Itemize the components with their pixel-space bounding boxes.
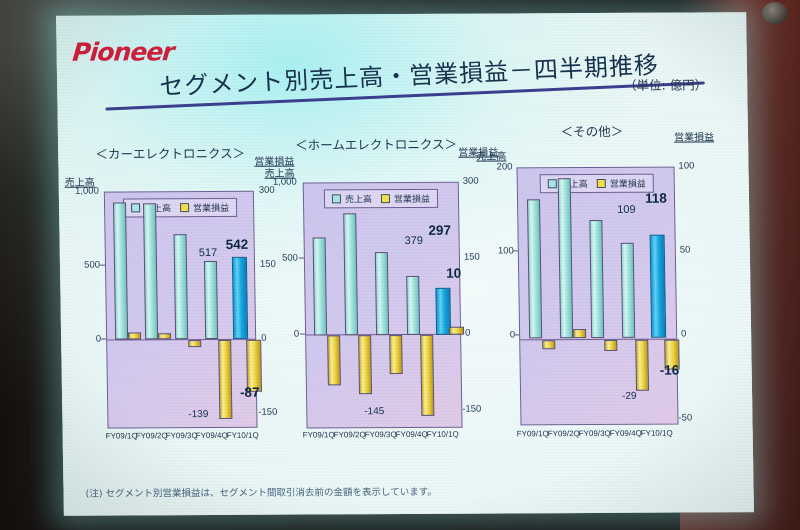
x-tick-label: FY09/2Q: [136, 431, 168, 440]
photo-of-projected-slide: Pioneer セグメント別売上高・営業損益－四半期推移 （単位: 億円） ＜カ…: [0, 0, 800, 530]
bar-revenue: [375, 252, 389, 335]
chart-title: ＜ホームエレクトロニクス＞: [262, 134, 490, 154]
y-tick: 1,000: [59, 186, 99, 197]
x-tick-label: FY09/4Q: [196, 431, 228, 440]
x-tick-label: FY09/1Q: [517, 429, 549, 438]
bar-operating-highlight: [449, 327, 464, 335]
bar-revenue-highlight: [650, 235, 667, 338]
bar-operating: [420, 335, 434, 416]
bar-revenue: [143, 203, 158, 339]
legend-item-operating: 営業損益: [381, 192, 430, 205]
footnote: (注) セグメント別営業損益は、セグメント間取引消去前の金額を表示しています。: [85, 484, 436, 500]
charts-row: ＜カーエレクトロニクス＞ 売上高 営業損益 1,000 500 0 300 15…: [58, 116, 754, 480]
y-tick: 500: [60, 260, 100, 271]
y2-tick: 0: [681, 329, 686, 340]
y2-tick: 300: [463, 176, 479, 187]
legend-swatch-icon: [180, 203, 189, 212]
bar-revenue: [343, 213, 358, 335]
x-tick-label: FY09/2Q: [548, 429, 580, 438]
y-tick: 100: [472, 245, 514, 256]
y-tick: 200: [470, 161, 512, 172]
chart-panel-home-electronics: ＜ホームエレクトロニクス＞ 売上高 営業損益 1,000 500 0 300 1…: [262, 118, 496, 479]
bar-revenue: [589, 220, 604, 338]
legend-swatch-icon: [381, 194, 390, 203]
data-label: -145: [364, 406, 384, 417]
bar-revenue: [558, 178, 574, 338]
chart-legend: 売上高 営業損益: [540, 174, 654, 194]
legend-label: 営業損益: [193, 201, 229, 214]
chart-legend: 売上高 営業損益: [123, 198, 237, 218]
ceiling-fixture: [762, 2, 788, 24]
y-tick: 500: [256, 253, 298, 264]
x-tick-label: FY09/3Q: [365, 430, 397, 439]
x-tick-label: FY10/1Q: [427, 430, 459, 439]
data-label-highlight: 297: [428, 223, 451, 238]
data-label-highlight: -87: [240, 385, 260, 400]
y2-tick: -150: [462, 404, 481, 415]
chart-title: ＜その他＞: [478, 120, 706, 140]
x-tick-label: FY09/3Q: [166, 431, 198, 440]
y2-tick: 0: [465, 328, 470, 339]
bar-operating: [218, 340, 232, 419]
plot-area: 売上高 営業損益: [104, 191, 258, 429]
bar-revenue: [313, 237, 328, 335]
data-label: -139: [188, 409, 208, 420]
data-label-highlight: 542: [226, 237, 249, 252]
y2-tick: -50: [678, 412, 692, 423]
bar-revenue: [527, 199, 542, 338]
legend-label: 営業損益: [610, 177, 646, 190]
unit-note: （単位: 億円）: [624, 74, 707, 93]
x-tick-label: FY09/4Q: [610, 429, 642, 438]
data-label: 517: [199, 247, 218, 259]
x-tick-label: FY09/4Q: [396, 430, 428, 439]
right-axis-title: 営業損益: [674, 128, 714, 143]
y2-tick: 100: [678, 160, 694, 171]
legend-swatch-icon: [131, 203, 140, 212]
bar-operating: [358, 335, 372, 394]
x-tick-label: FY10/1Q: [641, 429, 673, 438]
legend-label: 売上高: [345, 192, 372, 205]
bar-operating: [542, 340, 555, 349]
projection-screen: Pioneer セグメント別売上高・営業損益－四半期推移 （単位: 億円） ＜カ…: [56, 12, 754, 516]
chart-panel-others: ＜その他＞ 売上高 営業損益 200 100 0 100 50 0 -50: [478, 116, 712, 477]
chart-panel-car-electronics: ＜カーエレクトロニクス＞ 売上高 営業損益 1,000 500 0 300 15…: [56, 119, 290, 480]
bar-operating: [128, 332, 141, 339]
bar-revenue: [113, 202, 128, 339]
bar-revenue: [204, 261, 218, 339]
data-label: 109: [617, 204, 636, 216]
data-label-highlight: 118: [645, 191, 667, 206]
x-tick-label: FY09/2Q: [334, 430, 366, 439]
pioneer-logo: Pioneer: [71, 37, 175, 67]
data-label: 379: [405, 235, 424, 247]
plot-area: 売上高 営業損益: [303, 182, 463, 429]
y-tick: 0: [257, 329, 299, 340]
left-axis-title: 売上高: [476, 147, 506, 162]
legend-item-operating: 営業損益: [180, 201, 229, 214]
legend-label: 営業損益: [394, 192, 430, 205]
data-label-highlight: -16: [660, 363, 680, 378]
y-tick: 0: [473, 329, 515, 340]
y-tick: 0: [61, 334, 101, 345]
bar-operating: [158, 333, 171, 339]
data-label: -29: [622, 391, 637, 402]
x-tick-label: FY09/1Q: [303, 430, 335, 439]
bar-operating: [573, 329, 586, 338]
chart-legend: 売上高 営業損益: [324, 189, 438, 209]
bar-operating: [635, 340, 649, 391]
bar-operating: [389, 335, 403, 374]
y-tick: 1,000: [255, 177, 297, 188]
bar-revenue: [621, 243, 635, 338]
legend-swatch-icon: [332, 194, 341, 203]
x-tick-label: FY09/1Q: [106, 431, 138, 440]
chart-title: ＜カーエレクトロニクス＞: [56, 143, 284, 163]
slide-surface: Pioneer セグメント別売上高・営業損益－四半期推移 （単位: 億円） ＜カ…: [56, 12, 754, 516]
bar-revenue: [406, 276, 420, 335]
bar-revenue-highlight: [232, 257, 248, 339]
x-tick-label: FY10/1Q: [227, 431, 259, 440]
data-label-highlight: 10: [446, 266, 461, 281]
bar-revenue: [174, 234, 189, 339]
bar-operating: [327, 335, 341, 385]
x-tick-label: FY09/3Q: [579, 429, 611, 438]
legend-swatch-icon: [548, 179, 557, 188]
bar-operating: [604, 340, 617, 351]
legend-item-operating: 営業損益: [597, 177, 646, 190]
y2-tick: 50: [680, 245, 691, 256]
legend-swatch-icon: [597, 179, 606, 188]
bar-operating: [188, 340, 201, 347]
legend-item-revenue: 売上高: [332, 192, 372, 205]
